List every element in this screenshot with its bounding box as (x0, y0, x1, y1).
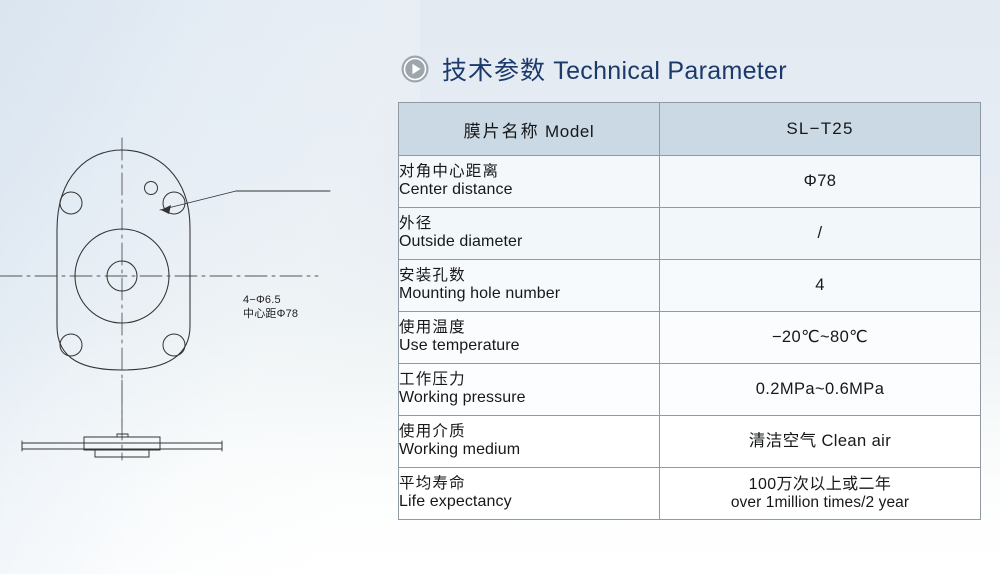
table-row: 外径 Outside diameter / (399, 208, 981, 260)
row-value-mounting-hole-number: 4 (660, 260, 981, 312)
row-label-use-temperature: 使用温度 Use temperature (399, 312, 660, 364)
plate-outline (57, 150, 190, 370)
table-row: 使用温度 Use temperature −20℃~80℃ (399, 312, 981, 364)
row-label-en: Use temperature (399, 337, 659, 356)
row-label-cn: 工作压力 (399, 371, 659, 389)
row-label-en: Center distance (399, 181, 659, 200)
row-label-cn: 平均寿命 (399, 475, 659, 493)
row-value-primary: Φ78 (660, 172, 980, 192)
table-row: 安装孔数 Mounting hole number 4 (399, 260, 981, 312)
row-label-en: Working pressure (399, 389, 659, 408)
table-header: 膜片名称 Model SL−T25 (399, 103, 981, 156)
row-value-life-expectancy: 100万次以上或二年 over 1million times/2 year (660, 468, 981, 520)
hole-annotation-line1: 4−Φ6.5 (243, 294, 281, 306)
hole-annotation-line2: 中心距Φ78 (243, 308, 298, 320)
row-label-en: Mounting hole number (399, 285, 659, 304)
model-number: SL−T25 (786, 119, 853, 138)
row-label-en: Outside diameter (399, 233, 659, 252)
row-value-primary: / (660, 224, 980, 244)
column-header-model: 膜片名称 Model (399, 103, 660, 156)
table-row: 工作压力 Working pressure 0.2MPa~0.6MPa (399, 364, 981, 416)
table-row: 平均寿命 Life expectancy 100万次以上或二年 over 1mi… (399, 468, 981, 520)
row-value-secondary: over 1million times/2 year (660, 494, 980, 513)
column-header-model-en: Model (545, 122, 594, 141)
table-header-row: 膜片名称 Model SL−T25 (399, 103, 981, 156)
page-title-en: Technical Parameter (553, 57, 787, 85)
row-value-primary: 0.2MPa~0.6MPa (660, 380, 980, 400)
row-label-life-expectancy: 平均寿命 Life expectancy (399, 468, 660, 520)
row-label-outside-diameter: 外径 Outside diameter (399, 208, 660, 260)
mounting-hole-bottom-right (163, 334, 185, 356)
row-value-working-medium: 清洁空气 Clean air (660, 416, 981, 468)
table-body: 对角中心距离 Center distance Φ78 外径 Outside di… (399, 156, 981, 520)
technical-drawing-panel: 4−Φ6.5 中心距Φ78 (0, 130, 390, 500)
row-label-en: Life expectancy (399, 493, 659, 512)
table-row: 对角中心距离 Center distance Φ78 (399, 156, 981, 208)
row-label-working-medium: 使用介质 Working medium (399, 416, 660, 468)
row-value-center-distance: Φ78 (660, 156, 981, 208)
mounting-hole-top-left (60, 192, 82, 214)
diaphragm-plate-drawing (0, 130, 390, 500)
row-label-cn: 安装孔数 (399, 267, 659, 285)
spec-panel: 技术参数 Technical Parameter 膜片名称 Model (398, 48, 982, 520)
row-label-cn: 对角中心距离 (399, 163, 659, 181)
row-value-primary: 清洁空气 Clean air (660, 432, 980, 452)
row-label-cn: 使用温度 (399, 319, 659, 337)
hole-annotation: 4−Φ6.5 中心距Φ78 (243, 293, 298, 321)
row-value-primary: −20℃~80℃ (660, 328, 980, 348)
row-value-primary: 100万次以上或二年 (660, 475, 980, 494)
play-circle-icon (400, 54, 430, 84)
row-label-mounting-hole-number: 安装孔数 Mounting hole number (399, 260, 660, 312)
specification-table: 膜片名称 Model SL−T25 对角中心距离 Center distance (398, 102, 981, 520)
page-canvas: 4−Φ6.5 中心距Φ78 技术参数 Technical Parameter (0, 0, 1000, 574)
column-header-model-cn: 膜片名称 (464, 122, 540, 141)
row-value-primary: 4 (660, 276, 980, 296)
row-label-en: Working medium (399, 441, 659, 460)
section-nipple (117, 434, 128, 437)
row-value-outside-diameter: / (660, 208, 981, 260)
row-value-use-temperature: −20℃~80℃ (660, 312, 981, 364)
table-row: 使用介质 Working medium 清洁空气 Clean air (399, 416, 981, 468)
mounting-hole-bottom-left (60, 334, 82, 356)
row-label-center-distance: 对角中心距离 Center distance (399, 156, 660, 208)
row-label-cn: 外径 (399, 215, 659, 233)
row-label-working-pressure: 工作压力 Working pressure (399, 364, 660, 416)
page-title-cn: 技术参数 (442, 57, 546, 85)
auxiliary-hole (145, 182, 158, 195)
section-heading: 技术参数 Technical Parameter (398, 48, 982, 90)
row-label-cn: 使用介质 (399, 423, 659, 441)
column-header-model-value: SL−T25 (660, 103, 981, 156)
leader-line (160, 191, 236, 210)
row-value-working-pressure: 0.2MPa~0.6MPa (660, 364, 981, 416)
page-title: 技术参数 Technical Parameter (442, 51, 787, 87)
